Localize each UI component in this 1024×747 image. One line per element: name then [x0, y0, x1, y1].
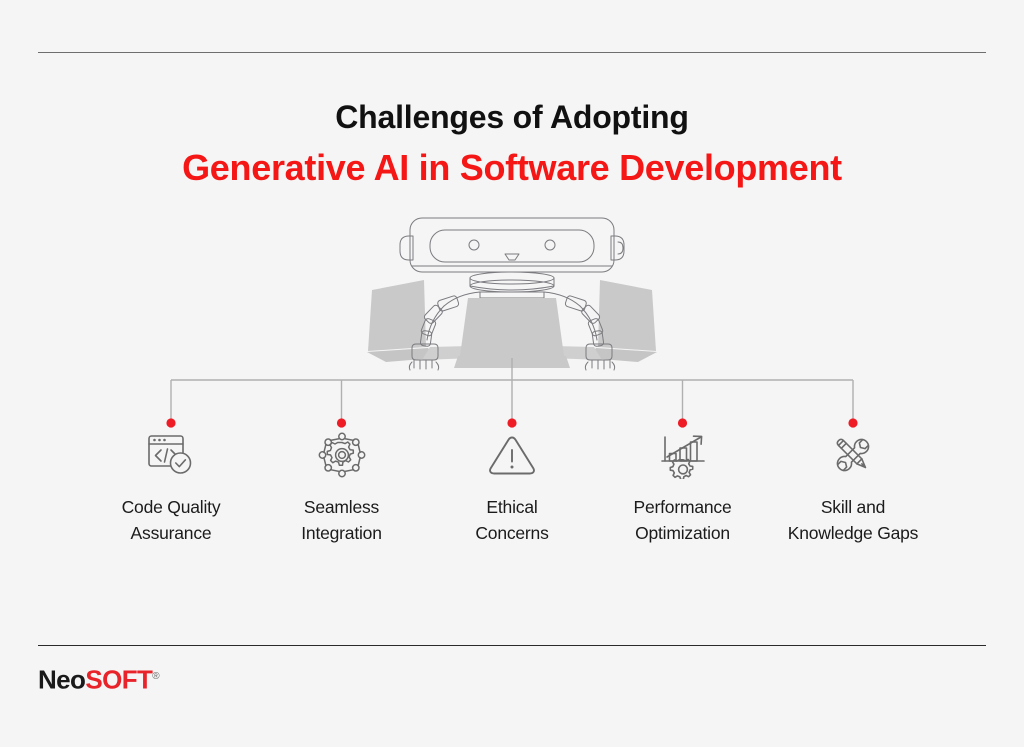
top-divider-rule	[38, 52, 986, 53]
gear-network-icon	[314, 430, 370, 480]
registered-trademark-icon: ®	[152, 671, 159, 682]
infographic-page: Challenges of Adopting Generative AI in …	[0, 0, 1024, 747]
bar-chart-gear-icon	[655, 430, 711, 480]
challenge-item-ethical-concerns: Ethical Concerns	[427, 430, 597, 546]
logo-text-neo: Neo	[38, 665, 85, 695]
robot-at-laptops-illustration	[362, 212, 662, 372]
challenge-label: Seamless Integration	[301, 494, 382, 546]
connector-dot	[678, 418, 687, 427]
connector-dot	[507, 418, 516, 427]
challenge-label: Performance Optimization	[634, 494, 732, 546]
connector-dot	[337, 418, 346, 427]
neosoft-logo: NeoSOFT®	[38, 662, 159, 695]
connector-lines	[0, 358, 1024, 438]
challenge-item-skill-knowledge-gaps: Skill and Knowledge Gaps	[768, 430, 938, 546]
challenge-label: Ethical Concerns	[475, 494, 548, 546]
code-quality-icon	[143, 430, 199, 480]
warning-triangle-icon	[484, 430, 540, 480]
challenge-label: Code Quality Assurance	[122, 494, 221, 546]
bottom-divider-rule	[38, 645, 986, 646]
connector-dot	[166, 418, 175, 427]
title-line-1: Challenges of Adopting	[0, 96, 1024, 138]
connector-dot	[848, 418, 857, 427]
challenge-item-code-quality: Code Quality Assurance	[86, 430, 256, 546]
challenge-label: Skill and Knowledge Gaps	[788, 494, 918, 546]
challenge-item-performance-optimization: Performance Optimization	[598, 430, 768, 546]
wrench-pencil-icon	[825, 430, 881, 480]
challenge-item-seamless-integration: Seamless Integration	[257, 430, 427, 546]
logo-text-soft: SOFT	[85, 665, 152, 695]
title-line-2: Generative AI in Software Development	[0, 142, 1024, 194]
page-title: Challenges of Adopting Generative AI in …	[0, 96, 1024, 194]
challenges-list: Code Quality Assurance	[86, 430, 938, 555]
